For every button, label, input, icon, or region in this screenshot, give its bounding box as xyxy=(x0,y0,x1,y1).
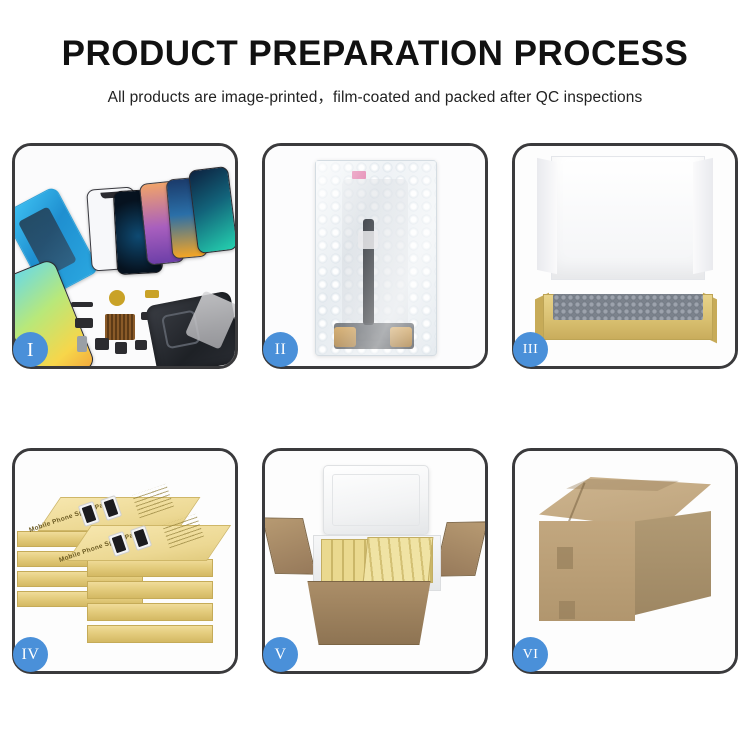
step-image-stacked-retail-boxes: Mobile Phone Spare Parts Mobile Phone Sp… xyxy=(15,451,235,671)
lcd-screen xyxy=(342,179,408,341)
carton-tab-upper xyxy=(557,547,573,569)
step-image-open-box-with-foam xyxy=(515,146,735,366)
step-image-carton-with-foam-liner xyxy=(265,451,485,671)
box-stack: Mobile Phone Spare Parts Mobile Phone Sp… xyxy=(15,467,235,667)
step-badge-2: II xyxy=(263,332,298,367)
steps-grid: I II xyxy=(12,143,738,674)
bubble-wrap-package xyxy=(315,160,437,356)
step-panel-1: I xyxy=(12,143,238,369)
box-lid-flap-right xyxy=(693,158,713,274)
step-image-bubble-wrapped-screen xyxy=(265,146,485,366)
header: PRODUCT PREPARATION PROCESS All products… xyxy=(0,0,750,107)
step-image-sealed-shipping-carton xyxy=(515,451,735,671)
step-panel-5: V xyxy=(262,448,488,674)
step-image-phones-and-parts xyxy=(15,146,235,366)
step-panel-2: II xyxy=(262,143,488,369)
connector-right xyxy=(390,327,412,347)
carton-body xyxy=(299,581,439,645)
step-panel-3: III xyxy=(512,143,738,369)
box-lid xyxy=(551,156,705,280)
carton-tab-lower xyxy=(559,601,575,619)
carton-flap-left xyxy=(265,517,316,574)
carton-side-face xyxy=(635,511,711,615)
box-lid-flap-left xyxy=(537,158,557,274)
page-title: PRODUCT PREPARATION PROCESS xyxy=(0,36,750,73)
step-panel-4: Mobile Phone Spare Parts Mobile Phone Sp… xyxy=(12,448,238,674)
step-panel-6: VI xyxy=(512,448,738,674)
carton-front-face xyxy=(539,521,635,621)
packed-retail-boxes-row-2 xyxy=(363,537,434,583)
connector-left xyxy=(334,327,356,347)
step-badge-6: VI xyxy=(513,637,548,672)
step-badge-3: III xyxy=(513,332,548,367)
step-badge-1: I xyxy=(13,332,48,367)
foam-padding xyxy=(553,294,703,320)
carton-flap-right xyxy=(434,521,485,576)
step-badge-4: IV xyxy=(13,637,48,672)
product-preparation-infographic: PRODUCT PREPARATION PROCESS All products… xyxy=(0,0,750,750)
styrofoam-lid xyxy=(323,465,429,535)
page-subtitle: All products are image-printed，film-coat… xyxy=(0,85,750,107)
pink-qc-label xyxy=(352,171,366,179)
step-badge-5: V xyxy=(263,637,298,672)
driver-chip xyxy=(358,231,378,249)
